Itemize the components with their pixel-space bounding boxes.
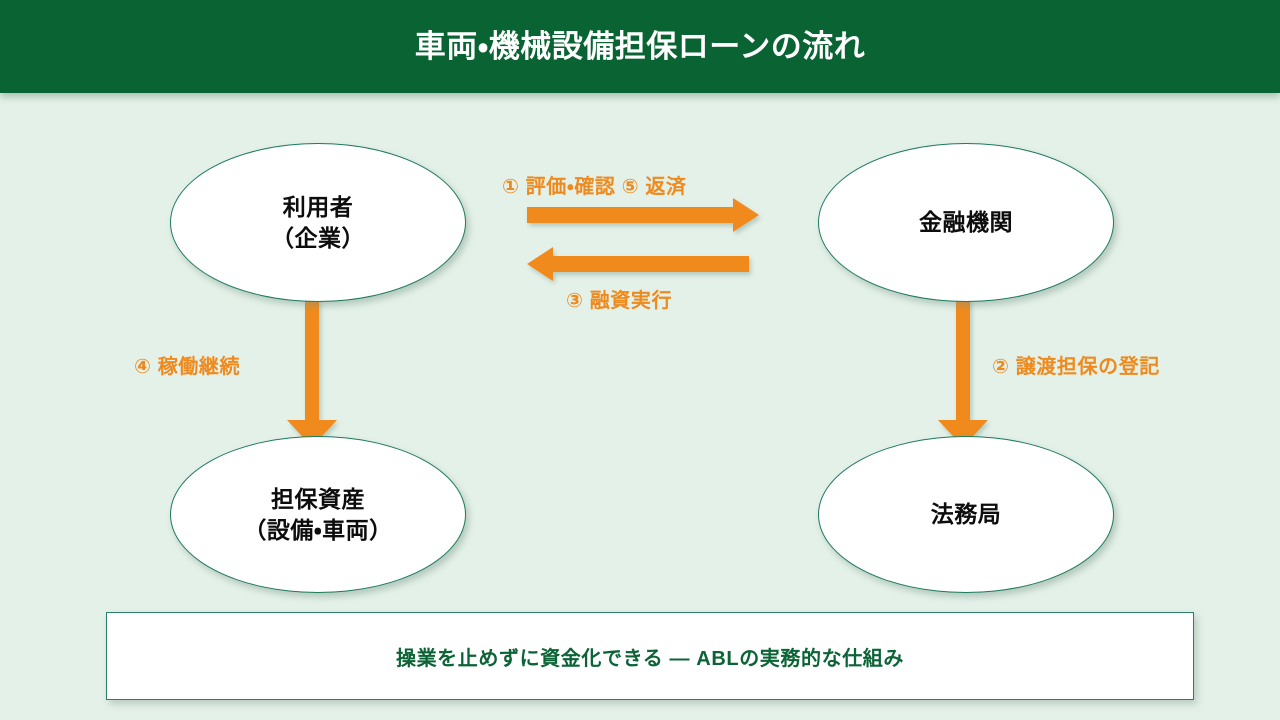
flow-label-step4: ④ 稼働継続 xyxy=(134,350,240,379)
node-collateral-asset[interactable]: 担保資産 （設備・車両） xyxy=(170,436,466,593)
header-bar: 車両・機械設備担保ローンの流れ xyxy=(0,0,1280,93)
flow-label-step3: ③ 融資実行 xyxy=(566,284,672,313)
arrow-bank-to-registry xyxy=(938,298,988,447)
flow-label-step2: ② 譲渡担保の登記 xyxy=(992,350,1160,379)
footer-banner-text: 操業を止めずに資金化できる ― ABLの実務的な仕組み xyxy=(396,642,904,671)
arrow-user-to-bank xyxy=(527,198,759,232)
node-collateral-asset-label: 担保資産 （設備・車両） xyxy=(243,484,392,545)
page-title: 車両・機械設備担保ローンの流れ xyxy=(0,0,1280,93)
node-bank[interactable]: 金融機関 xyxy=(818,143,1114,302)
node-legal-affairs-bureau-label: 法務局 xyxy=(931,499,1002,529)
flow-label-step1: ① 評価・確認 ⑤ 返済 xyxy=(502,170,687,199)
arrow-user-to-asset xyxy=(287,298,337,447)
node-user-label: 利用者 （企業） xyxy=(271,192,365,253)
arrow-bank-to-user xyxy=(527,247,749,281)
slide-canvas: 車両・機械設備担保ローンの流れ 利用者 （企業） 金融機関 xyxy=(0,0,1280,720)
node-bank-label: 金融機関 xyxy=(919,207,1013,237)
footer-banner: 操業を止めずに資金化できる ― ABLの実務的な仕組み xyxy=(106,612,1194,700)
node-user[interactable]: 利用者 （企業） xyxy=(170,143,466,302)
node-legal-affairs-bureau[interactable]: 法務局 xyxy=(818,436,1114,593)
